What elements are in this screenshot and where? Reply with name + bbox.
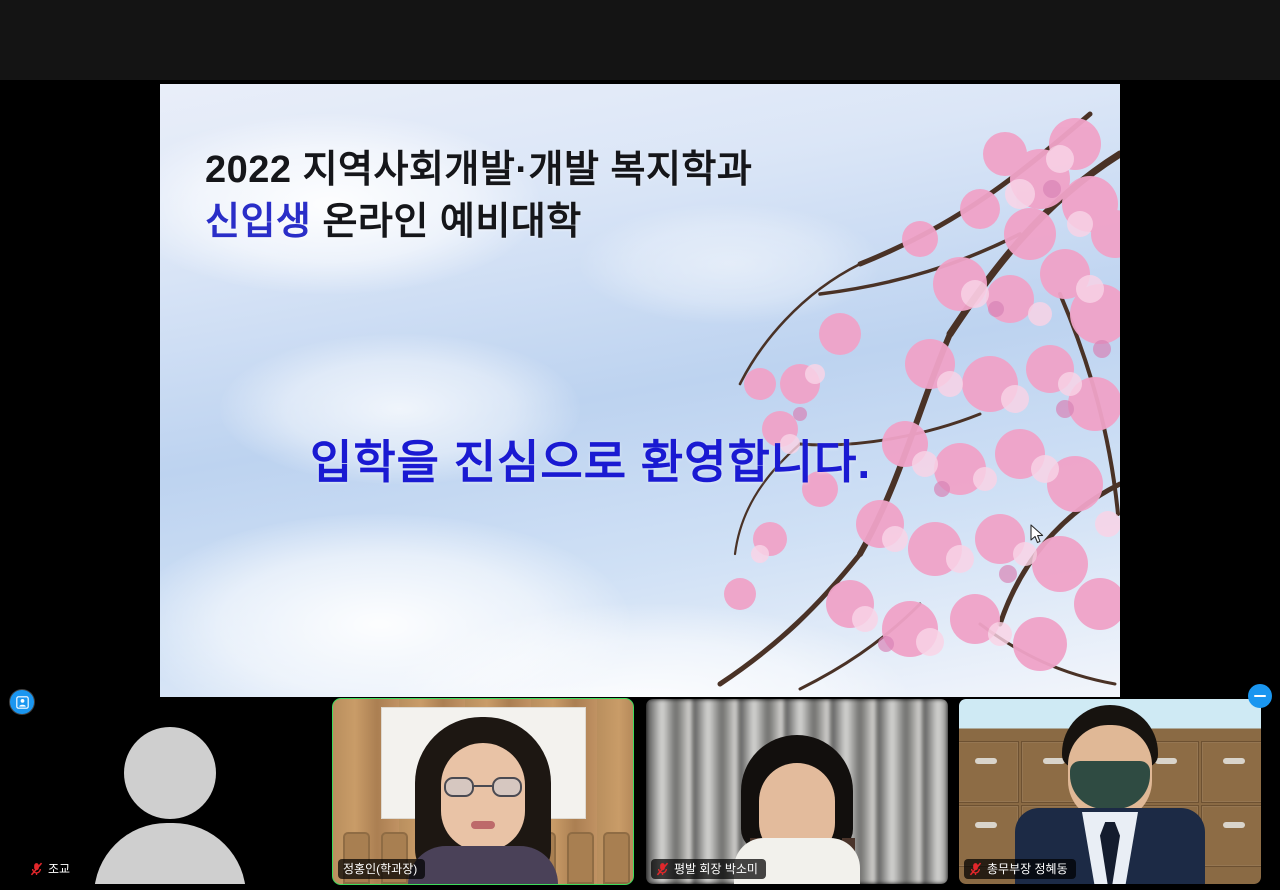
participant-portrait-icon[interactable] bbox=[10, 690, 34, 714]
eyeglasses bbox=[444, 777, 522, 797]
slide-title-line2-rest: 온라인 예비대학 bbox=[311, 201, 581, 243]
participant-filmstrip: 조교 bbox=[0, 697, 1280, 890]
person-mouth bbox=[471, 821, 495, 829]
participant-tile[interactable]: 평발 회장 박소미 bbox=[646, 699, 948, 884]
cloud-decoration bbox=[250, 684, 950, 697]
participant-name: 조교 bbox=[48, 859, 70, 879]
participant-video-area bbox=[333, 699, 633, 884]
slide-title-accent: 신입생 bbox=[205, 201, 311, 243]
participant-video-area bbox=[20, 699, 320, 884]
mic-muted-icon bbox=[969, 862, 982, 876]
participant-tile[interactable]: 조교 bbox=[20, 699, 320, 884]
participant-name-badge: 평발 회장 박소미 bbox=[651, 859, 766, 879]
shared-presentation-slide[interactable]: 2022 지역사회개발·개발 복지학과신입생 온라인 예비대학 입학을 진심으로… bbox=[160, 84, 1120, 697]
minimize-glyph bbox=[1254, 695, 1266, 697]
participant-name-badge: 정홍인(학과장) bbox=[338, 859, 425, 879]
portrait-glyph bbox=[16, 696, 29, 709]
meeting-window: 2022 지역사회개발·개발 복지학과신입생 온라인 예비대학 입학을 진심으로… bbox=[0, 0, 1280, 890]
slide-slogan: 입학을 진심으로 환영합니다. bbox=[310, 426, 871, 492]
person-torso bbox=[408, 846, 558, 884]
mic-muted-icon bbox=[30, 862, 43, 876]
participant-tile-active-speaker[interactable]: 정홍인(학과장) bbox=[333, 699, 633, 884]
participant-name-badge: 조교 bbox=[25, 859, 78, 879]
slide-title-line1: 2022 지역사회개발·개발 복지학과 bbox=[205, 149, 752, 191]
participant-video-area bbox=[646, 699, 948, 884]
cloud-decoration bbox=[160, 514, 630, 697]
participant-video-area bbox=[959, 699, 1261, 884]
minimize-icon[interactable] bbox=[1248, 684, 1272, 708]
participant-name: 평발 회장 박소미 bbox=[674, 859, 758, 879]
participant-name: 정홍인(학과장) bbox=[343, 859, 417, 879]
window-top-chrome bbox=[0, 0, 1280, 80]
participant-tile[interactable]: 총무부장 정혜동 bbox=[959, 699, 1261, 884]
cloud-decoration bbox=[390, 604, 910, 697]
shared-screen-stage[interactable]: 2022 지역사회개발·개발 복지학과신입생 온라인 예비대학 입학을 진심으로… bbox=[0, 80, 1280, 697]
avatar bbox=[94, 823, 246, 884]
avatar bbox=[124, 727, 216, 819]
mic-muted-icon bbox=[656, 862, 669, 876]
person-face bbox=[441, 743, 525, 851]
participant-name-badge: 총무부장 정혜동 bbox=[964, 859, 1076, 879]
slide-title: 2022 지역사회개발·개발 복지학과신입생 온라인 예비대학 bbox=[205, 144, 752, 249]
participant-name: 총무부장 정혜동 bbox=[987, 859, 1068, 879]
